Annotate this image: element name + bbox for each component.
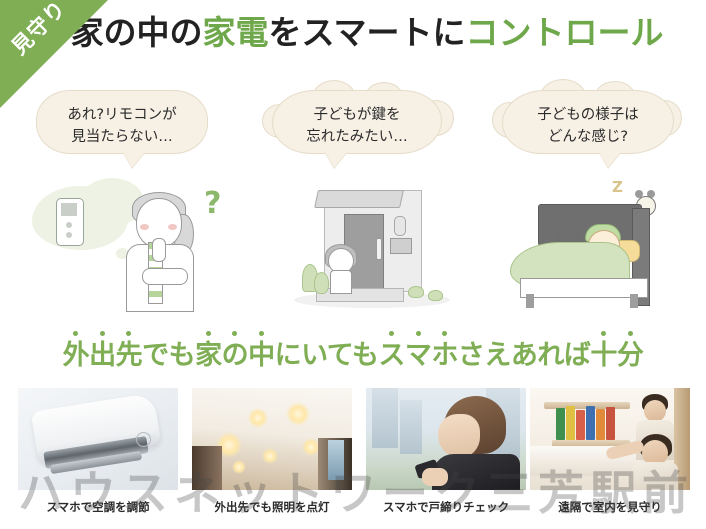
remote-button-2-icon (66, 232, 72, 238)
sleep-zzz-icon: Z (612, 178, 623, 196)
feature-cell-lighting[interactable]: 外出先でも照明を点灯 (192, 388, 352, 515)
bubble-3-line-2: どんな感じ? (503, 126, 673, 148)
bubble-1-tail (123, 152, 145, 168)
woman-photo-face (438, 414, 480, 458)
subheadline-char-14: ホ (431, 342, 458, 369)
bush-3 (408, 286, 424, 298)
headline-accent-control: コントロール (466, 13, 664, 52)
bubble-2-line-1: 子どもが鍵を (273, 104, 441, 126)
subheadline-char-2: 先 (116, 342, 143, 369)
bubble-2-tail (325, 152, 347, 168)
subheadline-char-16: え (484, 340, 511, 371)
caption-lock-check: スマホで戸締りチェック (366, 499, 526, 515)
subheadline-char-15: さ (458, 340, 485, 371)
ceiling-wall-left (192, 446, 222, 490)
woman-cheek-right (168, 224, 177, 230)
subheadline: 外出先でも家の中にいてもスマホさえあれば十分 (63, 328, 644, 369)
building-1 (372, 388, 398, 448)
book-5 (596, 409, 605, 440)
bed-leg-left (526, 294, 534, 308)
subheadline-char-3: で (142, 340, 169, 371)
illustration-row: ? Z (0, 182, 706, 310)
girl-body (632, 462, 678, 490)
feature-cell-air-conditioner[interactable]: スマホで空調を調節 (18, 388, 178, 515)
subheadline-char-19: ば (564, 340, 591, 371)
downlight-3-icon (286, 402, 310, 426)
subheadline-container: 外出先でも家の中にいてもスマホさえあれば十分 (0, 328, 706, 380)
mailbox-icon (390, 238, 412, 254)
caption-watch-room: 遠隔で室内を見守り (530, 499, 690, 515)
subheadline-char-6: の (222, 342, 249, 369)
book-6 (606, 407, 615, 440)
photo-children-room (530, 388, 690, 490)
bubble-2-line-2: 忘れたみたい… (273, 126, 441, 148)
book-2 (566, 406, 575, 440)
headline-accent-kaden: 家電 (202, 13, 268, 52)
subheadline-char-21: 分 (617, 342, 644, 369)
downlight-4-icon (262, 448, 278, 464)
book-4 (586, 406, 595, 440)
illustration-sleeping-child: Z (492, 182, 682, 310)
book-3 (576, 410, 585, 440)
subheadline-char-5: 家 (195, 342, 222, 369)
feature-cell-watch-room[interactable]: 遠隔で室内を見守り (530, 388, 690, 515)
remote-screen-icon (61, 203, 77, 216)
bubble-3-tail (599, 152, 621, 168)
bush-2 (314, 272, 329, 294)
woman-hand (152, 238, 166, 262)
bubble-1-line-2: 見当たらない… (37, 126, 207, 148)
house-canopy (314, 190, 404, 208)
subheadline-char-7: 中 (248, 342, 275, 369)
headline-part-1: 家の中の (70, 13, 202, 52)
illustration-child-at-door (288, 182, 458, 310)
woman-arm (142, 268, 188, 285)
caption-air-conditioner: スマホで空調を調節 (18, 499, 178, 515)
subheadline-char-1: 出 (89, 342, 116, 369)
speech-bubble-row: あれ?リモコンが 見当たらない… 子どもが鍵を 忘れたみたい… 子どもの様子は … (0, 84, 706, 182)
subheadline-char-8: に (275, 340, 302, 371)
bed-leg-right (630, 294, 638, 308)
subheadline-char-9: い (301, 340, 327, 371)
photo-air-conditioner (18, 388, 178, 490)
ceiling-window (328, 440, 344, 480)
headline-part-3: をスマートに (268, 13, 465, 52)
speech-bubble-child-status: 子どもの様子は どんな感じ? (502, 90, 674, 154)
door-handle-icon (376, 238, 382, 260)
caption-lighting: 外出先でも照明を点灯 (192, 499, 352, 515)
downlight-2-icon (248, 408, 268, 428)
question-mark-icon: ? (204, 186, 221, 221)
subheadline-char-11: も (352, 340, 379, 371)
subheadline-char-10: て (327, 340, 352, 371)
bubble-3-line-1: 子どもの様子は (503, 104, 673, 126)
remote-button-1-icon (66, 222, 72, 228)
illustration-woman-thinking: ? (28, 182, 258, 310)
building-2 (400, 400, 422, 454)
woman-cheek-left (140, 224, 149, 230)
bed-base (520, 278, 648, 298)
subheadline-char-12: ス (378, 342, 405, 369)
porch-light-icon (394, 216, 406, 236)
child-body (330, 270, 352, 294)
subheadline-char-13: マ (405, 342, 432, 369)
speech-bubble-key: 子どもが鍵を 忘れたみたい… (272, 90, 442, 154)
speech-bubble-remote: あれ?リモコンが 見当たらない… (36, 90, 208, 154)
page-title: 家の中の家電をスマートにコントロール (0, 14, 706, 53)
subheadline-char-17: あ (511, 340, 538, 371)
bubble-1-line-1: あれ?リモコンが (37, 104, 207, 126)
book-1 (556, 408, 565, 440)
feature-photo-strip: スマホで空調を調節 外出先でも照明を点灯 (0, 388, 706, 529)
photo-ceiling-lighting (192, 388, 352, 490)
feature-cell-lock-check[interactable]: スマホで戸締りチェック (366, 388, 526, 515)
subheadline-char-20: 十 (590, 342, 617, 369)
woman-photo-hand (422, 468, 448, 486)
downlight-6-icon (232, 460, 246, 474)
subheadline-char-18: れ (537, 340, 564, 371)
photo-woman-smartphone (366, 388, 526, 490)
subheadline-char-4: も (169, 340, 196, 371)
subheadline-char-0: 外 (63, 342, 90, 369)
boy-head (644, 400, 666, 422)
bush-4 (428, 290, 443, 301)
